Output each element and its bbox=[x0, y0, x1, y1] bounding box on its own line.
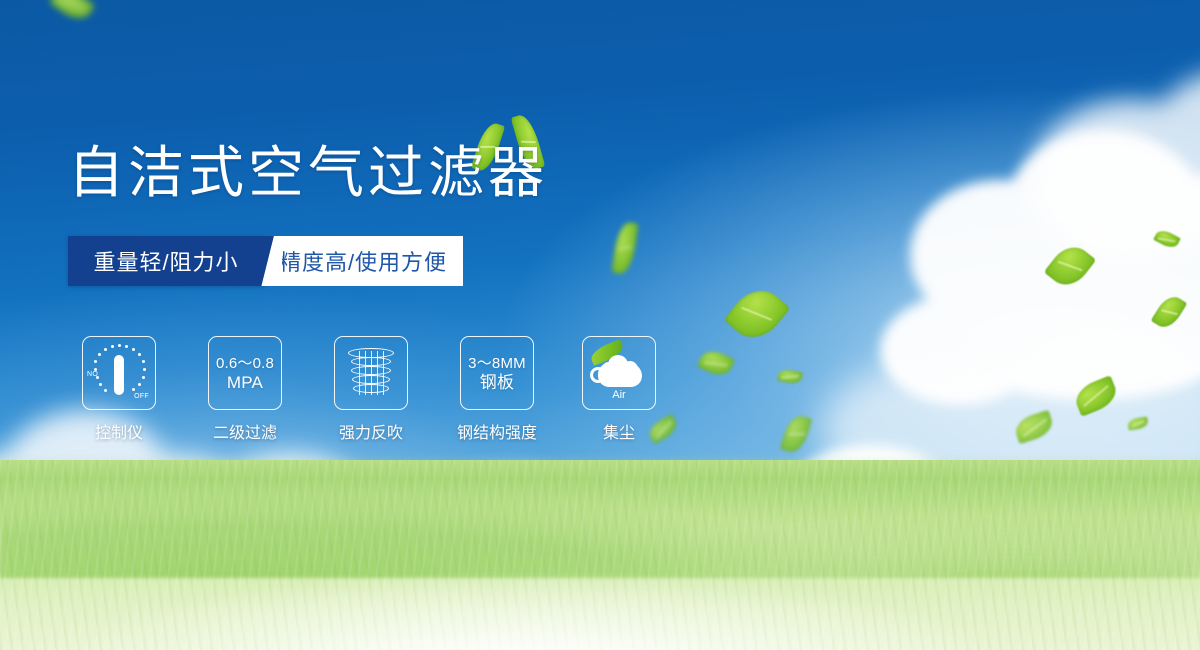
cloud-cluster-top-right bbox=[1010, 70, 1200, 310]
gauge-label-off: OFF bbox=[134, 393, 149, 400]
filter-stack-icon bbox=[346, 346, 396, 400]
cloud-swirl-small bbox=[602, 362, 615, 375]
subtitle-left-text: 重量轻/阻力小 bbox=[93, 245, 238, 277]
gauge-needle bbox=[114, 355, 124, 395]
grass-ridge bbox=[0, 448, 1200, 578]
feature-label: 强力反吹 bbox=[339, 419, 403, 443]
feature-label: 钢结构强度 bbox=[457, 419, 537, 443]
pressure-value-line1: 0.6～0.8 bbox=[216, 354, 274, 373]
feature-icon-box: 0.6～0.8 MPA bbox=[208, 336, 282, 410]
feature-item-two-stage-filter[interactable]: 0.6～0.8 MPA 二级过滤 bbox=[202, 336, 288, 443]
feature-icon-box: NO OFF bbox=[82, 336, 156, 410]
air-cloud-icon: Air bbox=[588, 347, 650, 399]
feature-item-back-blow[interactable]: 强力反吹 bbox=[328, 336, 414, 443]
gauge-label-no: NO bbox=[87, 371, 98, 378]
page-title: 自洁式空气过滤器 bbox=[68, 140, 548, 206]
feature-label: 控制仪 bbox=[95, 419, 143, 443]
feature-item-steel-strength[interactable]: 3～8MM 钢板 钢结构强度 bbox=[454, 336, 540, 443]
feature-item-dust-collection[interactable]: Air 集尘 bbox=[576, 336, 662, 443]
subtitle-slant-divider bbox=[256, 236, 282, 286]
subtitle-right-panel: 精度高/使用方便 bbox=[263, 236, 463, 286]
feature-list: NO OFF 控制仪 0.6～0.8 MPA 二级过滤 bbox=[68, 336, 688, 446]
product-banner: 自洁式空气过滤器 重量轻/阻力小 精度高/使用方便 bbox=[0, 0, 1200, 650]
feature-icon-box: 3～8MM 钢板 bbox=[460, 336, 534, 410]
steel-value-line1: 3～8MM bbox=[468, 354, 526, 373]
gauge-icon: NO OFF bbox=[87, 343, 151, 403]
pressure-value-line2: MPA bbox=[227, 373, 263, 392]
subtitle-bar: 重量轻/阻力小 精度高/使用方便 bbox=[68, 236, 464, 286]
subtitle-right-text: 精度高/使用方便 bbox=[279, 245, 447, 277]
feature-icon-box: Air bbox=[582, 336, 656, 410]
air-label: Air bbox=[588, 389, 650, 401]
feature-item-controller[interactable]: NO OFF 控制仪 bbox=[76, 336, 162, 443]
subtitle-left-panel: 重量轻/阻力小 bbox=[68, 236, 264, 286]
feature-label: 二级过滤 bbox=[213, 419, 277, 443]
steel-value-line2: 钢板 bbox=[480, 373, 514, 392]
feature-label: 集尘 bbox=[603, 419, 635, 443]
feature-icon-box bbox=[334, 336, 408, 410]
